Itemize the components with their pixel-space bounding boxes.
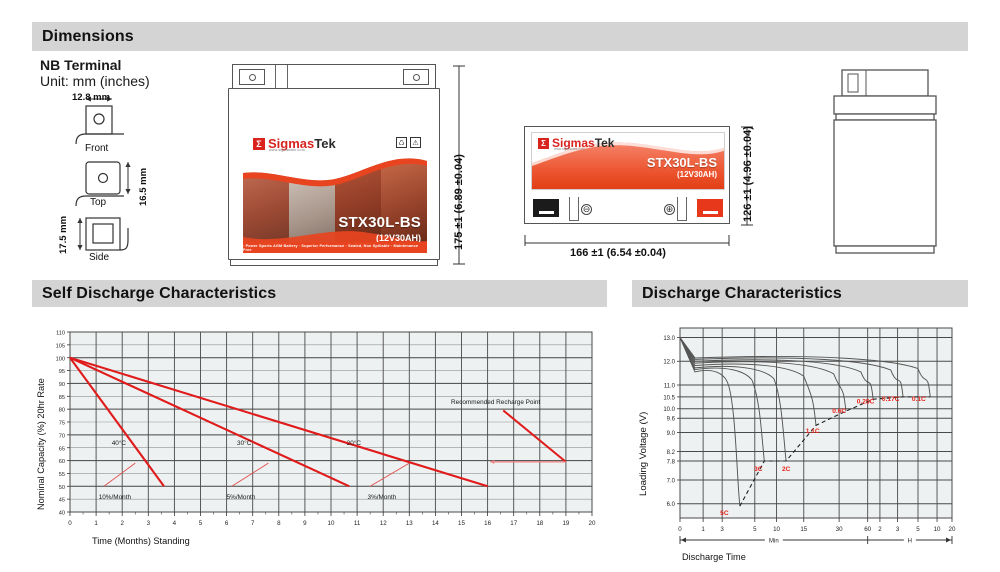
battery-model-side: STX30L-BS xyxy=(647,155,717,170)
svg-text:15: 15 xyxy=(458,520,465,527)
brand-website: www.sigmastek.com xyxy=(554,147,585,151)
sigmastek-logo-icon: Σ xyxy=(538,138,549,149)
unit-note: Unit: mm (inches) xyxy=(40,73,150,89)
svg-text:60: 60 xyxy=(864,526,871,533)
battery-foot xyxy=(230,260,438,266)
svg-text:8.2: 8.2 xyxy=(667,450,676,456)
terminal-height-dim: 17.5 mm xyxy=(58,216,69,254)
battery-terminal-row: ⊖ ⊕ xyxy=(525,193,731,224)
terminal-bracket-right xyxy=(677,197,687,221)
svg-text:2: 2 xyxy=(878,526,882,533)
caution-icon: ⚠ xyxy=(410,137,421,148)
battery-feature-strip: · Power Sports AGM Battery · Superior Pe… xyxy=(243,242,427,253)
battery-label-artwork: Σ SigmasTek www.sigmastek.com ♺ ⚠ STX30L… xyxy=(243,133,427,253)
svg-text:1: 1 xyxy=(701,526,705,533)
svg-text:10.5: 10.5 xyxy=(663,395,675,401)
spec-sheet-page: Dimensions NB Terminal Unit: mm (inches) xyxy=(0,0,1000,572)
svg-text:105: 105 xyxy=(56,343,65,349)
svg-text:Nominal Capacity (%) 20hr Rate: Nominal Capacity (%) 20hr Rate xyxy=(36,378,46,510)
svg-text:45: 45 xyxy=(59,498,65,504)
svg-text:0: 0 xyxy=(678,526,682,533)
section-title-self-discharge: Self Discharge Characteristics xyxy=(32,285,276,303)
brand-website: www.sigmastek.com xyxy=(269,148,305,152)
svg-text:90: 90 xyxy=(59,382,65,388)
svg-text:7.8: 7.8 xyxy=(667,459,676,465)
svg-text:1.1C: 1.1C xyxy=(806,428,820,435)
svg-text:10: 10 xyxy=(934,526,941,533)
sigmastek-logo-icon: Σ xyxy=(253,138,265,150)
terminal-depth-dim: 16.5 mm xyxy=(138,168,149,206)
section-title-dimensions: Dimensions xyxy=(32,28,134,46)
svg-text:110: 110 xyxy=(56,331,65,337)
svg-text:2C: 2C xyxy=(782,466,791,473)
self-discharge-chart: 4045505560657075808590951001051100123456… xyxy=(32,320,607,565)
svg-text:H: H xyxy=(908,538,912,544)
battery-capacity-side: (12V30AH) xyxy=(677,170,717,179)
svg-text:6.0: 6.0 xyxy=(667,502,676,508)
svg-text:50: 50 xyxy=(59,485,65,491)
svg-text:12: 12 xyxy=(380,520,387,527)
terminal-bracket-left xyxy=(569,197,579,221)
negative-terminal-block xyxy=(533,199,559,217)
section-header-discharge: Discharge Characteristics xyxy=(632,280,968,307)
terminal-width-dim: 12.8 mm xyxy=(72,92,110,103)
terminal-view-front: Front xyxy=(85,143,108,154)
svg-text:5: 5 xyxy=(199,520,203,527)
svg-text:5: 5 xyxy=(753,526,757,533)
svg-text:4: 4 xyxy=(173,520,177,527)
terminal-view-top: Top xyxy=(90,197,106,208)
svg-text:11.0: 11.0 xyxy=(664,383,676,389)
svg-text:16: 16 xyxy=(484,520,491,527)
svg-text:0.25C: 0.25C xyxy=(857,398,875,405)
positive-terminal-block xyxy=(697,199,723,217)
svg-text:2: 2 xyxy=(120,520,124,527)
svg-text:9.0: 9.0 xyxy=(667,431,676,437)
svg-text:13.0: 13.0 xyxy=(663,336,675,342)
section-title-discharge: Discharge Characteristics xyxy=(632,285,842,303)
vent-hole-icon xyxy=(249,74,256,81)
svg-text:11: 11 xyxy=(354,520,361,527)
battery-end-view xyxy=(826,64,944,260)
discharge-chart: 13.012.011.010.510.09.69.08.27.87.06.001… xyxy=(632,318,968,568)
battery-side-label: Σ SigmasTek www.sigmastek.com STX30L-BS … xyxy=(531,132,725,190)
negative-polarity-icon: ⊖ xyxy=(581,204,592,215)
terminal-drawings xyxy=(62,88,182,270)
section-header-self-discharge: Self Discharge Characteristics xyxy=(32,280,607,307)
battery-case: Σ SigmasTek www.sigmastek.com ♺ ⚠ STX30L… xyxy=(228,88,440,260)
svg-text:20: 20 xyxy=(589,520,596,527)
svg-text:0.6C: 0.6C xyxy=(832,408,846,415)
svg-text:100: 100 xyxy=(56,356,65,362)
svg-text:0.1C: 0.1C xyxy=(912,396,926,403)
battery-cap xyxy=(232,64,436,90)
svg-text:Discharge Time: Discharge Time xyxy=(682,552,746,562)
svg-text:14: 14 xyxy=(432,520,439,527)
svg-text:60: 60 xyxy=(59,459,65,465)
positive-polarity-icon: ⊕ xyxy=(664,204,675,215)
svg-text:18: 18 xyxy=(536,520,543,527)
svg-text:20°C: 20°C xyxy=(347,439,362,447)
terminal-slot xyxy=(539,211,554,214)
terminal-view-side: Side xyxy=(89,252,109,263)
svg-text:10: 10 xyxy=(773,526,780,533)
svg-text:10.0: 10.0 xyxy=(663,407,675,413)
battery-side-height-dimension: 126 ±1 (4.96 ±0.04) xyxy=(742,126,754,222)
self-discharge-plot: 4045505560657075808590951001051100123456… xyxy=(32,320,607,565)
svg-text:1: 1 xyxy=(94,520,98,527)
terminal-slot xyxy=(703,211,718,214)
svg-text:20: 20 xyxy=(949,526,956,533)
battery-front-view: Σ SigmasTek www.sigmastek.com ♺ ⚠ STX30L… xyxy=(228,64,440,260)
svg-text:13: 13 xyxy=(406,520,413,527)
recycle-icon: ♺ xyxy=(396,137,407,148)
svg-text:3: 3 xyxy=(147,520,151,527)
svg-text:85: 85 xyxy=(59,395,65,401)
svg-text:10%/Month: 10%/Month xyxy=(99,494,132,501)
svg-text:5C: 5C xyxy=(720,510,729,517)
svg-text:5%/Month: 5%/Month xyxy=(227,494,256,501)
svg-text:0: 0 xyxy=(68,520,72,527)
svg-text:55: 55 xyxy=(59,472,65,478)
svg-text:Min: Min xyxy=(769,538,779,544)
svg-text:40°C: 40°C xyxy=(112,439,127,447)
section-header-dimensions: Dimensions xyxy=(32,22,968,51)
battery-height-dimension: 175 ±1 (6.89 ±0.04) xyxy=(453,154,465,250)
svg-text:70: 70 xyxy=(59,433,65,439)
svg-text:7.0: 7.0 xyxy=(667,478,676,484)
discharge-plot: 13.012.011.010.510.09.69.08.27.87.06.001… xyxy=(632,318,968,568)
svg-text:65: 65 xyxy=(59,446,65,452)
vent-hole-icon xyxy=(413,74,420,81)
svg-text:30°C: 30°C xyxy=(237,439,252,447)
cap-vent-right xyxy=(403,69,429,85)
svg-text:40: 40 xyxy=(59,511,65,517)
svg-text:6: 6 xyxy=(225,520,229,527)
svg-text:19: 19 xyxy=(562,520,569,527)
svg-text:8: 8 xyxy=(277,520,281,527)
svg-text:3: 3 xyxy=(896,526,900,533)
svg-text:0.17C: 0.17C xyxy=(882,396,900,403)
svg-text:7: 7 xyxy=(251,520,255,527)
svg-text:3%/Month: 3%/Month xyxy=(368,494,397,501)
cap-vent-left xyxy=(239,69,265,85)
svg-text:30: 30 xyxy=(836,526,843,533)
svg-text:Loading Voltage (V): Loading Voltage (V) xyxy=(638,412,649,496)
svg-text:3: 3 xyxy=(720,526,724,533)
svg-text:Time (Months) Standing: Time (Months) Standing xyxy=(92,536,190,546)
nb-terminal-title: NB Terminal xyxy=(40,57,121,73)
svg-text:5: 5 xyxy=(916,526,920,533)
battery-model-front: STX30L-BS xyxy=(338,214,421,231)
svg-text:75: 75 xyxy=(59,421,65,427)
svg-text:9.6: 9.6 xyxy=(667,417,676,423)
svg-text:17: 17 xyxy=(510,520,517,527)
svg-text:95: 95 xyxy=(59,369,65,375)
svg-text:12.0: 12.0 xyxy=(663,360,675,366)
battery-length-dimension: 166 ±1 (6.54 ±0.04) xyxy=(570,247,666,259)
svg-text:80: 80 xyxy=(59,408,65,414)
battery-side-view: Σ SigmasTek www.sigmastek.com STX30L-BS … xyxy=(524,126,730,224)
battery-side-case: Σ SigmasTek www.sigmastek.com STX30L-BS … xyxy=(524,126,730,224)
svg-text:9: 9 xyxy=(303,520,307,527)
svg-text:15: 15 xyxy=(800,526,807,533)
svg-text:3C: 3C xyxy=(754,466,763,473)
svg-text:Recommended Recharge Point: Recommended Recharge Point xyxy=(451,399,540,406)
svg-text:10: 10 xyxy=(328,520,335,527)
side-length-dim-line xyxy=(522,232,732,246)
